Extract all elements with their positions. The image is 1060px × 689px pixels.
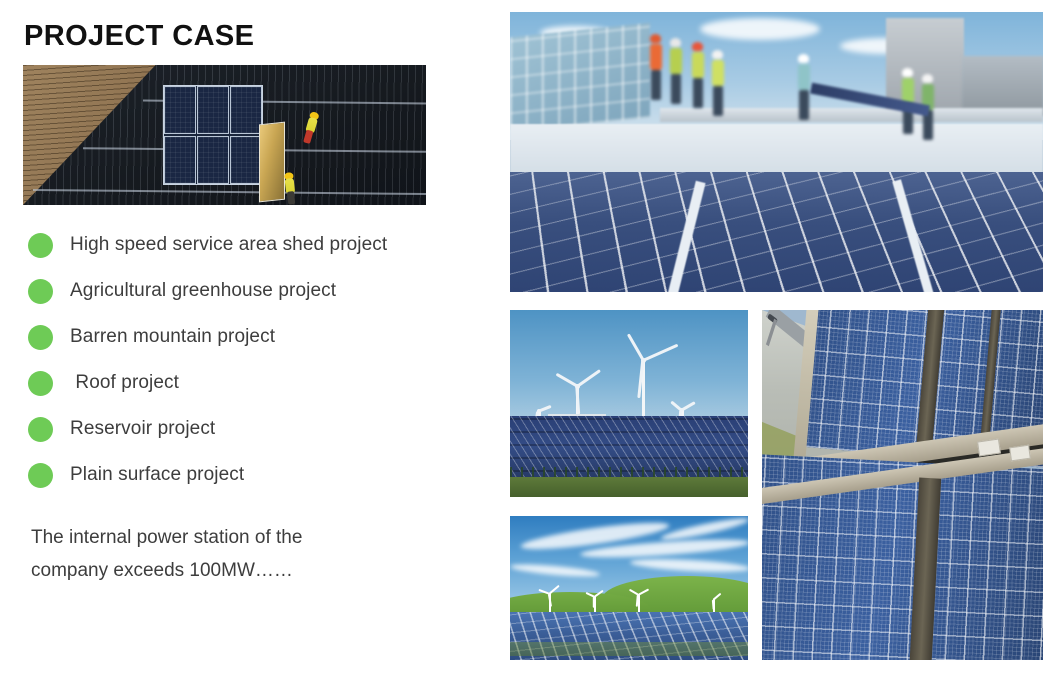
- capacity-note-line-2: company exceeds 100MW……: [31, 554, 461, 587]
- list-item-label: Reservoir project: [70, 418, 215, 440]
- rooftop-equipment-box: [977, 439, 1001, 457]
- worker-figure: [692, 42, 704, 108]
- green-dot-icon: [28, 325, 53, 350]
- worker-legs: [713, 86, 723, 116]
- list-item: High speed service area shed project: [28, 222, 478, 268]
- list-item-label: Barren mountain project: [70, 326, 275, 348]
- light-pole: [766, 319, 777, 347]
- solar-panel-array: [510, 172, 1043, 292]
- sky: [510, 310, 748, 420]
- capacity-note: The internal power station of the compan…: [31, 521, 461, 587]
- hard-hat-icon: [902, 68, 913, 77]
- green-dot-icon: [28, 463, 53, 488]
- list-item-label: Agricultural greenhouse project: [70, 280, 336, 302]
- page-title: PROJECT CASE: [24, 22, 254, 51]
- list-item: Agricultural greenhouse project: [28, 268, 478, 314]
- hi-vis-vest: [650, 44, 662, 70]
- worker-legs: [671, 74, 681, 104]
- turbine-blade: [593, 597, 595, 608]
- hi-vis-vest: [712, 60, 724, 86]
- list-item: Reservoir project: [28, 406, 478, 452]
- commercial-rooftop-array-photo: [510, 12, 1043, 292]
- list-item: Roof project: [28, 360, 478, 406]
- worker-legs: [693, 78, 703, 108]
- hi-vis-vest: [692, 52, 704, 78]
- list-item-label: Plain surface project: [70, 464, 244, 486]
- installed-panel-block: [163, 85, 263, 185]
- list-item-label: High speed service area shed project: [70, 234, 387, 256]
- hard-hat-icon: [712, 50, 723, 59]
- green-dot-icon: [28, 233, 53, 258]
- grass-foreground: [510, 477, 748, 497]
- hillside-solar-farm-photo: [510, 516, 748, 660]
- cloud: [700, 18, 820, 40]
- green-dot-icon: [28, 417, 53, 442]
- list-item: Plain surface project: [28, 452, 478, 498]
- left-content-column: PROJECT CASE High speed service area she…: [0, 0, 500, 689]
- hi-vis-vest: [670, 48, 682, 74]
- hard-hat-icon: [670, 38, 681, 47]
- list-item: Barren mountain project: [28, 314, 478, 360]
- rooftop-equipment-box: [1009, 445, 1031, 462]
- aerial-rooftop-array-photo: [762, 310, 1043, 660]
- hard-hat-icon: [692, 42, 703, 51]
- background-building: [962, 56, 1043, 116]
- hard-hat-icon: [798, 54, 809, 63]
- green-dot-icon: [28, 279, 53, 304]
- project-type-list: High speed service area shed project Agr…: [28, 222, 478, 498]
- wind-turbine-solar-farm-photo: [510, 310, 748, 497]
- glass-facade-building: [510, 23, 650, 133]
- capacity-note-line-1: The internal power station of the: [31, 521, 461, 554]
- panel-being-carried: [259, 122, 285, 203]
- list-item-label: Roof project: [70, 372, 179, 394]
- worker-legs: [651, 70, 661, 100]
- hard-hat-icon: [650, 34, 661, 43]
- rooftop-solar-installation-photo: [23, 65, 426, 205]
- grass-foreground: [510, 642, 748, 656]
- hi-vis-vest: [798, 64, 810, 90]
- worker-legs: [799, 90, 809, 120]
- worker-figure: [650, 34, 662, 100]
- worker-legs: [287, 191, 295, 205]
- worker-figure: [670, 38, 682, 104]
- worker-figure: [798, 54, 810, 120]
- worker-figure: [712, 50, 724, 116]
- green-dot-icon: [28, 371, 53, 396]
- hard-hat-icon: [922, 74, 933, 83]
